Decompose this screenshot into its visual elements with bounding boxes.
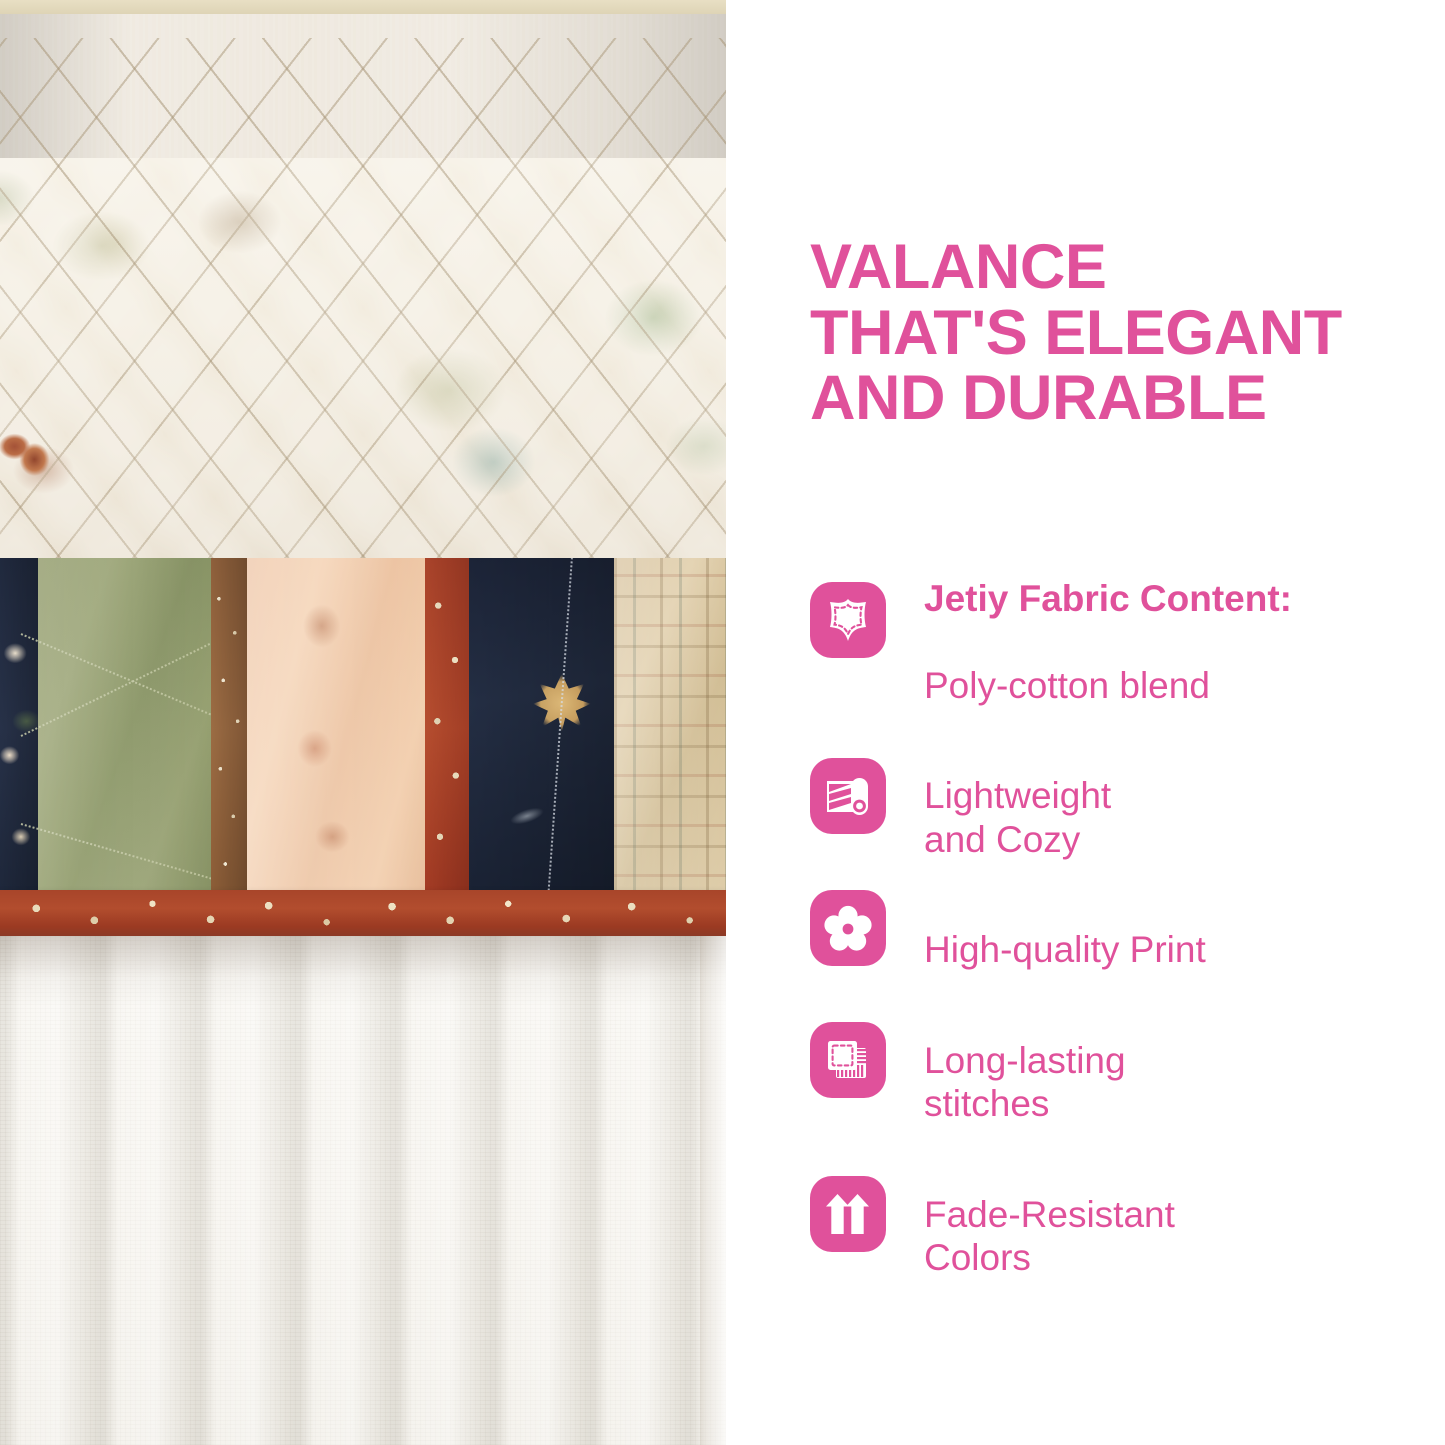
feature-item-fade-resistant: Fade-Resistant Colors (810, 1149, 1410, 1280)
feature-title: Jetiy Fabric Content: (924, 577, 1292, 621)
butterfly-motif (0, 426, 58, 480)
feature-body: Poly-cotton blend (924, 665, 1210, 706)
patch-rust-floral (425, 558, 469, 898)
feature-text: Long-lasting stitches (924, 995, 1126, 1126)
feature-item-fabric-content: Jetiy Fabric Content: Poly-cotton blend (810, 533, 1410, 708)
double-up-arrow-icon (810, 1176, 886, 1252)
feature-list: Jetiy Fabric Content: Poly-cotton blend (810, 533, 1410, 1280)
feature-text: Fade-Resistant Colors (924, 1149, 1175, 1280)
feature-text: Jetiy Fabric Content: Poly-cotton blend (924, 533, 1292, 708)
quilt-line (20, 633, 236, 726)
feature-text: High-quality Print (924, 885, 1206, 972)
wall-background (0, 0, 726, 14)
maple-leaf-motif (533, 674, 591, 732)
feature-body: High-quality Print (924, 929, 1206, 970)
sheer-linen-curtain (0, 936, 726, 1445)
feature-body: Fade-Resistant Colors (924, 1194, 1175, 1279)
content-panel: VALANCE THAT'S ELEGANT AND DURABLE Jetiy… (726, 0, 1445, 1445)
quilt-line (20, 633, 231, 737)
leather-hide-stitched-icon (810, 582, 886, 658)
feature-text: Lightweight and Cozy (924, 731, 1111, 862)
patch-navy-maple-leaf (469, 558, 614, 898)
page-title: VALANCE THAT'S ELEGANT AND DURABLE (810, 235, 1410, 432)
quilt-loft-shading (0, 158, 726, 558)
quilted-floral-panel (0, 158, 726, 558)
fabric-roll-icon (810, 758, 886, 834)
stacked-fabric-stitches-icon (810, 1022, 886, 1098)
flower-icon (810, 890, 886, 966)
feature-body: Lightweight and Cozy (924, 775, 1111, 860)
product-infographic: VALANCE THAT'S ELEGANT AND DURABLE Jetiy… (0, 0, 1445, 1445)
patch-tan-plaid (614, 558, 726, 898)
patch-sage-green (38, 558, 211, 898)
patch-speckled-brown (211, 558, 247, 898)
feature-item-print-quality: High-quality Print (810, 885, 1410, 972)
curtain-top-shadow (0, 936, 726, 1006)
feature-body: Long-lasting stitches (924, 1040, 1126, 1125)
patch-peach-floral (247, 558, 425, 898)
rust-floral-binding (0, 890, 726, 936)
feature-item-lightweight: Lightweight and Cozy (810, 731, 1410, 862)
curtain-right-edge (700, 936, 726, 1445)
feature-item-stitches: Long-lasting stitches (810, 995, 1410, 1126)
patchwork-strip-row (0, 558, 726, 898)
quilt-line (546, 558, 576, 898)
wooden-crown-molding (0, 14, 726, 158)
sprig-motif (496, 789, 558, 843)
product-photo (0, 0, 726, 1445)
